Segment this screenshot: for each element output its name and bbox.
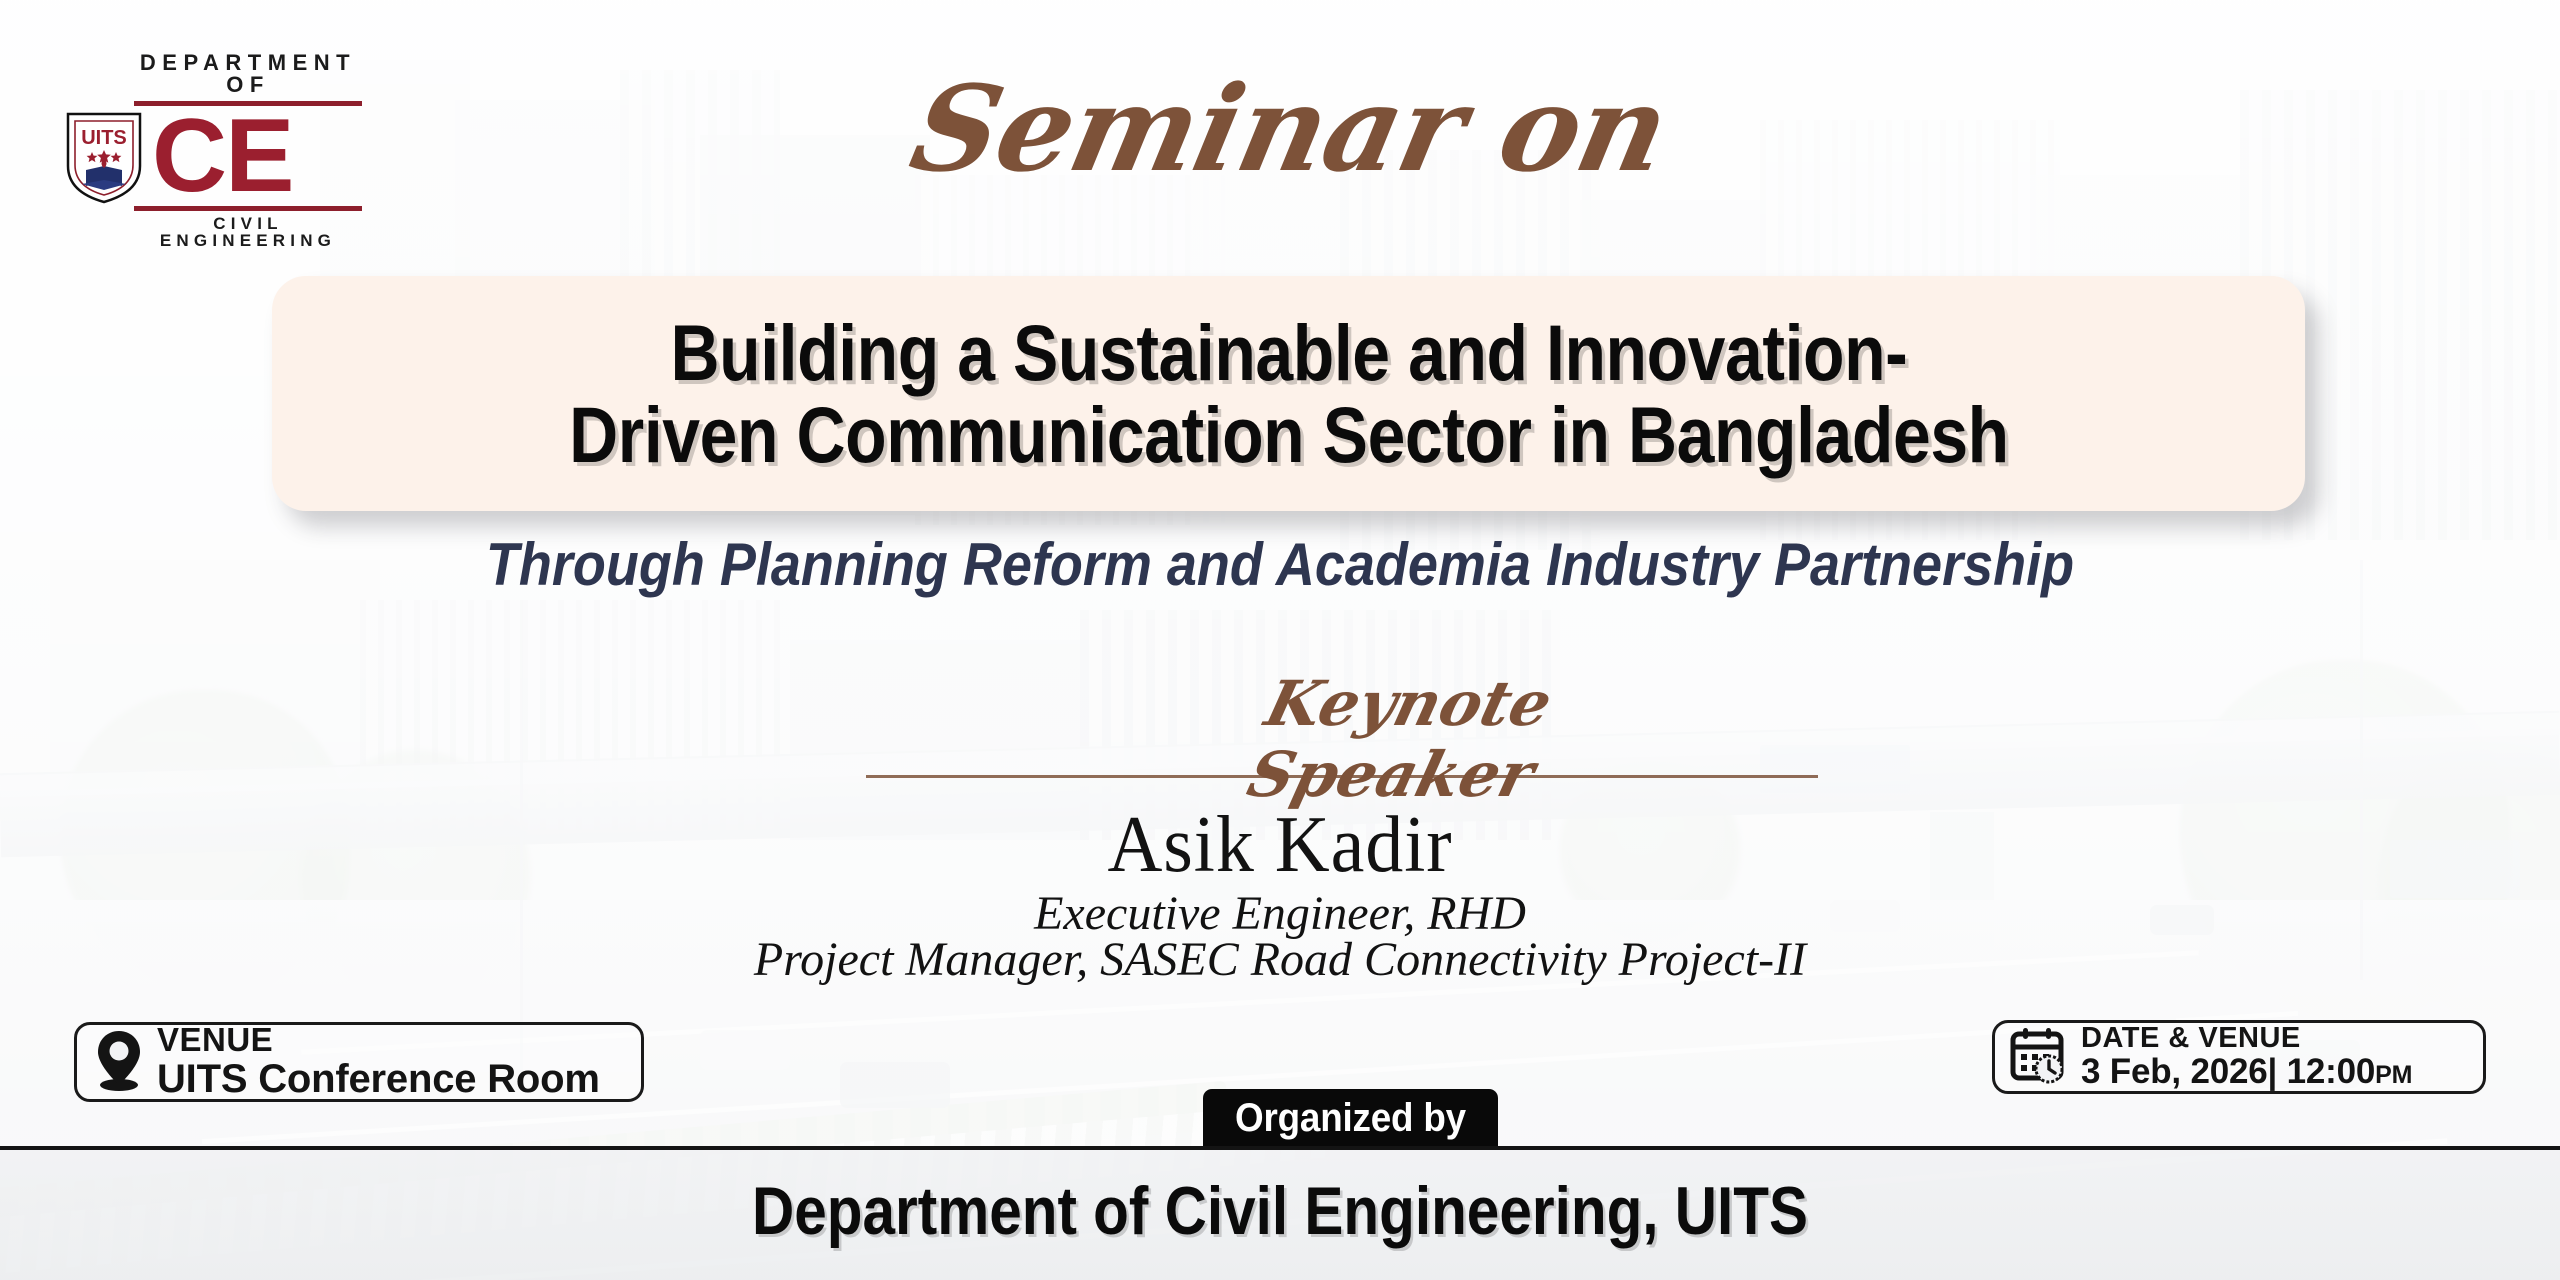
logo-ce-monogram: CE bbox=[152, 112, 292, 201]
department-logo: DEPARTMENT OF UITS bbox=[62, 52, 362, 249]
keynote-speaker-heading: Keynote Speaker bbox=[1122, 668, 1678, 811]
speaker-role-secondary: Project Manager, SASEC Road Connectivity… bbox=[0, 932, 2560, 987]
calendar-clock-icon bbox=[2009, 1026, 2067, 1089]
seminar-title-line1: Building a Sustainable and Innovation- bbox=[569, 312, 2009, 393]
logo-top-line: DEPARTMENT OF bbox=[62, 52, 362, 96]
date-meridiem: PM bbox=[2375, 1061, 2412, 1089]
keynote-divider bbox=[866, 775, 1818, 778]
seminar-subtitle: Through Planning Reform and Academia Ind… bbox=[128, 530, 2432, 599]
organized-by-label: Organized by bbox=[1235, 1096, 1466, 1141]
uits-shield-icon: UITS bbox=[62, 108, 146, 206]
venue-info-pill: VENUE UITS Conference Room bbox=[74, 1022, 644, 1102]
seminar-banner: DEPARTMENT OF UITS bbox=[0, 0, 2560, 1280]
svg-text:UITS: UITS bbox=[81, 127, 127, 149]
map-pin-icon bbox=[95, 1029, 143, 1096]
logo-bottom-line: CIVIL ENGINEERING bbox=[62, 215, 362, 249]
venue-label: VENUE bbox=[157, 1023, 600, 1058]
venue-text-group: VENUE UITS Conference Room bbox=[157, 1023, 600, 1101]
speaker-name: Asik Kadir bbox=[64, 800, 2496, 891]
seminar-on-heading: Seminar on bbox=[874, 55, 1705, 203]
venue-value: UITS Conference Room bbox=[157, 1058, 600, 1101]
date-label: DATE & VENUE bbox=[2081, 1023, 2412, 1054]
title-card: Building a Sustainable and Innovation- D… bbox=[272, 276, 2305, 511]
seminar-title: Building a Sustainable and Innovation- D… bbox=[569, 312, 2009, 475]
date-value: 3 Feb, 2026| 12:00PM bbox=[2081, 1053, 2412, 1091]
date-info-pill: DATE & VENUE 3 Feb, 2026| 12:00PM bbox=[1992, 1020, 2486, 1094]
organized-by-badge: Organized by bbox=[1203, 1089, 1498, 1147]
logo-main-row: UITS CE bbox=[62, 108, 362, 206]
organizer-name: Department of Civil Engineering, UITS bbox=[179, 1172, 2381, 1250]
date-text-group: DATE & VENUE 3 Feb, 2026| 12:00PM bbox=[2081, 1023, 2412, 1092]
seminar-title-line2: Driven Communication Sector in Banglades… bbox=[569, 394, 2009, 475]
